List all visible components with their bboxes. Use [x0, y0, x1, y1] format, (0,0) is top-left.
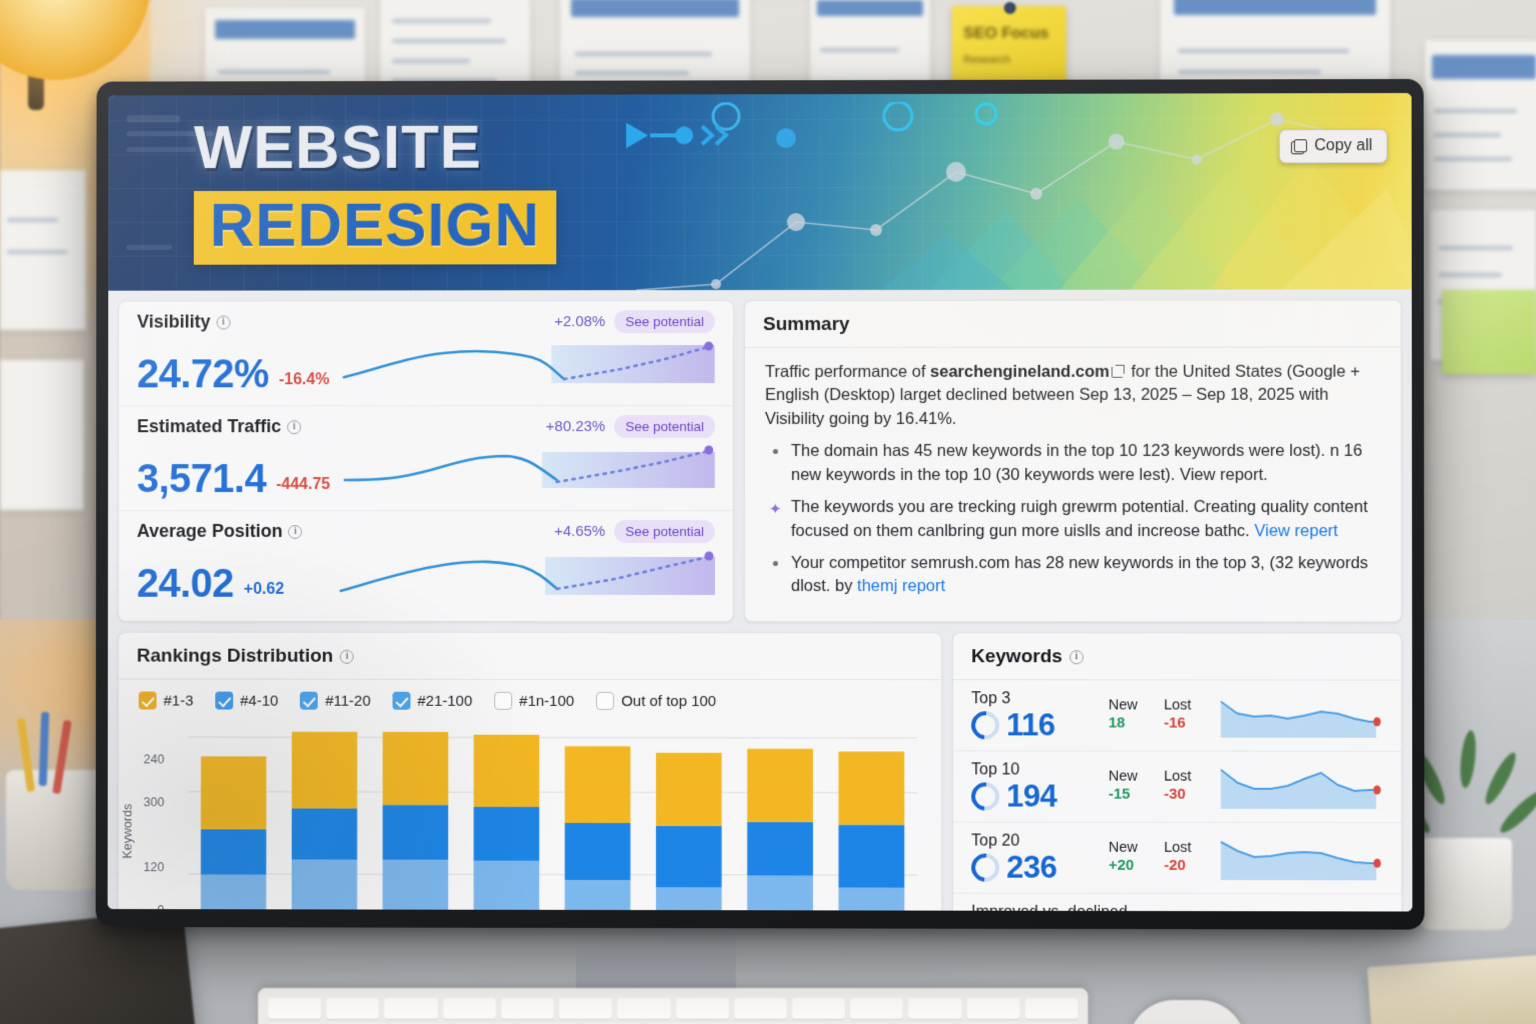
dashboard-body: Visibility i +2.08% See potential 24.72%… [108, 289, 1413, 911]
bullet-dot-icon [773, 449, 778, 454]
sticky-note-seo: SEO Focus Research [952, 6, 1066, 84]
summary-intro-before: Traffic performance of [765, 363, 930, 381]
banner-title-highlight: REDESIGN [194, 190, 556, 264]
top20-sparkline [1219, 836, 1383, 880]
top10-sparkline [1219, 765, 1383, 809]
metric-change: -444.75 [276, 476, 330, 500]
keywords-row-label: Top 20 [971, 833, 1096, 851]
new-label: New [1108, 699, 1151, 715]
metric-label: Visibility i [137, 312, 230, 333]
keywords-row-left: Top 3 116 [971, 690, 1096, 740]
top3-sparkline [1219, 693, 1383, 737]
lost-value: -16 [1164, 715, 1207, 732]
keywords-row-left: Top 10 194 [971, 761, 1096, 811]
checkbox-checked-icon[interactable] [139, 692, 157, 710]
stacked-bar-chart-labels: 0120300240Sep 12Sep 13Sep 13Sep 14Sep 16… [118, 713, 941, 911]
sticky-note-title: SEO Focus [963, 25, 1057, 43]
summary-domain: searchengineland.com [930, 363, 1109, 381]
checkbox-checked-icon[interactable] [393, 692, 411, 710]
visibility-sparkline [339, 335, 715, 395]
keywords-row-label: Top 10 [971, 761, 1096, 779]
summary-bullet: Your competitor semrush.com has 28 new k… [765, 552, 1381, 599]
keywords-row-top3: Top 3 116 New 18 Lost -16 [953, 680, 1401, 752]
metric-name-text: Average Position [137, 521, 283, 542]
copy-all-button[interactable]: Copy all [1279, 129, 1387, 163]
keywords-row-value: 236 [1006, 852, 1056, 883]
metric-potential-pct: +80.23% [546, 418, 606, 435]
checkbox-unchecked-icon[interactable] [494, 692, 512, 710]
checkbox-checked-icon[interactable] [300, 692, 318, 710]
metric-name-text: Estimated Traffic [137, 416, 281, 437]
svg-text:Keywords: Keywords [120, 804, 134, 859]
legend-label: #11-20 [325, 692, 370, 709]
legend-item-21-100[interactable]: #21-100 [393, 692, 473, 710]
banner-title-line1: WEBSITE [194, 117, 556, 179]
improved-vs-declined: Improved vs. declined 100 107 [953, 894, 1401, 912]
lost-label: Lost [1164, 699, 1207, 715]
keywords-row-top10: Top 10 194 New -15 Lost -30 [953, 751, 1401, 823]
rankings-title-text: Rankings Distribution [137, 646, 333, 668]
metric-row-estimated-traffic: Estimated Traffic i +80.23% See potentia… [119, 406, 733, 511]
sticky-note-sub: Research [963, 54, 1057, 66]
view-report-link[interactable]: View repert [1254, 522, 1338, 540]
keywords-row-label: Top 3 [971, 690, 1096, 708]
keywords-title-text: Keywords [971, 646, 1062, 668]
metric-change: -16.4% [279, 371, 329, 395]
pushpin-icon [1004, 2, 1016, 14]
new-value: 18 [1108, 715, 1151, 732]
pinned-paper [0, 360, 84, 510]
svg-text:120: 120 [143, 860, 164, 874]
see-potential-button[interactable]: See potential [614, 310, 715, 333]
summary-title-text: Summary [763, 314, 850, 336]
legend-item-out-of-top-100[interactable]: Out of top 100 [596, 692, 716, 710]
pinned-paper [1425, 40, 1536, 190]
external-link-icon[interactable] [1111, 365, 1124, 378]
pinned-paper [0, 170, 86, 330]
donut-icon [966, 776, 1006, 816]
legend-label: #1n-100 [519, 692, 574, 709]
keywords-new-stat: New 18 [1108, 699, 1151, 732]
estimated-traffic-sparkline [340, 440, 715, 500]
summary-bullet: ✦ The keywords you are trecking ruigh gr… [765, 496, 1381, 543]
metric-value: 3,571.4 [137, 458, 266, 500]
average-position-sparkline [336, 545, 715, 605]
legend-item-1n-100[interactable]: #1n-100 [494, 692, 574, 710]
rankings-chart: 0120300240Sep 12Sep 13Sep 13Sep 14Sep 16… [118, 713, 941, 911]
info-icon[interactable]: i [216, 315, 230, 329]
screen: WEBSITE REDESIGN Copy all V [108, 93, 1413, 911]
banner-title-block: WEBSITE REDESIGN [194, 117, 556, 265]
metric-value: 24.72% [137, 353, 269, 395]
legend-item-4-10[interactable]: #4-10 [215, 692, 278, 710]
bullet-dot-icon [773, 561, 778, 566]
metric-potential-pct: +4.65% [554, 523, 605, 540]
see-potential-button[interactable]: See potential [614, 520, 715, 543]
keywords-lost-stat: Lost -16 [1164, 699, 1207, 732]
keywords-title: Keywords i [953, 633, 1401, 680]
metrics-card: Visibility i +2.08% See potential 24.72%… [118, 300, 734, 622]
metric-change: +0.62 [244, 581, 284, 605]
checkbox-checked-icon[interactable] [215, 692, 233, 710]
new-value: -15 [1108, 786, 1151, 803]
keywords-lost-stat: Lost -30 [1164, 770, 1207, 803]
pinned-paper [810, 0, 930, 90]
info-icon[interactable]: i [340, 650, 354, 664]
see-potential-button[interactable]: See potential [614, 415, 715, 438]
keyboard[interactable] [258, 988, 1088, 1024]
keywords-row-value: 194 [1006, 780, 1056, 811]
legend-item-11-20[interactable]: #11-20 [300, 692, 370, 710]
checkbox-unchecked-icon[interactable] [596, 692, 614, 710]
summary-body: Traffic performance of searchengineland.… [745, 348, 1401, 619]
keywords-card: Keywords i Top 3 116 New [952, 632, 1402, 911]
donut-icon [966, 847, 1006, 887]
summary-bullet-list: The domain has 45 new keywords in the to… [765, 440, 1381, 599]
legend-label: #4-10 [240, 692, 278, 709]
summary-title: Summary [745, 300, 1401, 348]
keywords-row-value: 116 [1006, 709, 1055, 740]
lost-label: Lost [1164, 770, 1207, 786]
banner-title-line2: REDESIGN [210, 190, 541, 259]
monitor: WEBSITE REDESIGN Copy all V [96, 79, 1425, 930]
keywords-lost-stat: Lost -20 [1164, 841, 1207, 874]
metric-row-average-position: Average Position i +4.65% See potential … [119, 511, 733, 615]
metric-row-visibility: Visibility i +2.08% See potential 24.72%… [119, 301, 733, 406]
keywords-row-top20: Top 20 236 New +20 Lost -20 [953, 822, 1401, 894]
legend-label: #21-100 [417, 692, 472, 709]
new-label: New [1108, 841, 1151, 857]
svg-text:0: 0 [157, 904, 164, 912]
sparkle-icon: ✦ [769, 499, 782, 520]
new-value: +20 [1108, 857, 1151, 874]
donut-icon [966, 705, 1006, 745]
svg-text:240: 240 [144, 752, 165, 766]
summary-intro: Traffic performance of searchengineland.… [765, 361, 1381, 432]
legend-item-1-3[interactable]: #1-3 [139, 692, 194, 710]
metric-potential-pct: +2.08% [554, 313, 605, 330]
dashboard-top-row: Visibility i +2.08% See potential 24.72%… [118, 299, 1402, 622]
summary-card: Summary Traffic performance of searcheng… [744, 299, 1402, 622]
summary-bullet-text: The domain has 45 new keywords in the to… [791, 442, 1362, 484]
info-icon[interactable]: i [288, 524, 302, 538]
lost-label: Lost [1164, 841, 1207, 857]
keywords-new-stat: New +20 [1108, 841, 1151, 874]
metric-value: 24.02 [137, 563, 234, 605]
rankings-title: Rankings Distribution i [119, 633, 941, 681]
summary-bullet: The domain has 45 new keywords in the to… [765, 440, 1381, 487]
copy-all-label: Copy all [1314, 137, 1372, 155]
dashboard-bottom-row: Rankings Distribution i #1-3 #4-10 [117, 632, 1402, 912]
improved-title: Improved vs. declined [971, 904, 1383, 912]
metric-name-text: Visibility [137, 312, 210, 333]
rankings-distribution-card: Rankings Distribution i #1-3 #4-10 [117, 632, 942, 912]
info-icon[interactable]: i [1069, 650, 1083, 664]
lost-value: -20 [1164, 857, 1207, 874]
metric-label: Average Position i [137, 521, 303, 542]
them-report-link[interactable]: themj report [857, 577, 945, 595]
hero-banner: WEBSITE REDESIGN Copy all [108, 93, 1411, 291]
copy-icon [1291, 139, 1306, 154]
new-label: New [1108, 770, 1151, 786]
info-icon[interactable]: i [287, 420, 301, 434]
lost-value: -30 [1164, 786, 1207, 803]
sticky-note-green [1442, 290, 1536, 374]
keywords-new-stat: New -15 [1108, 770, 1151, 803]
legend-label: #1-3 [163, 692, 193, 709]
svg-text:300: 300 [144, 796, 165, 810]
metric-label: Estimated Traffic i [137, 416, 301, 437]
legend-label: Out of top 100 [621, 692, 716, 709]
keywords-row-left: Top 20 236 [971, 833, 1096, 883]
rankings-legend: #1-3 #4-10 #11-20 #21-100 [119, 680, 941, 715]
